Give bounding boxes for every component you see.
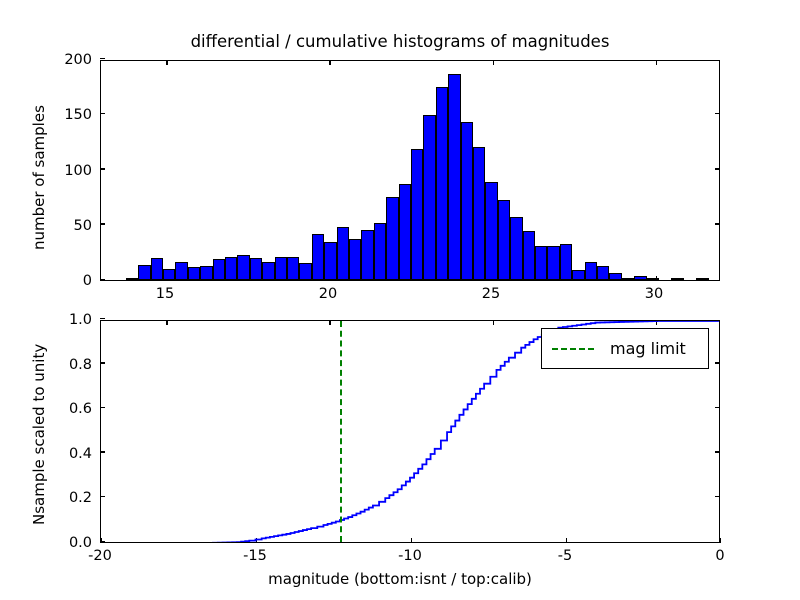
histogram-bar — [138, 265, 150, 280]
histogram-bar — [213, 259, 225, 280]
legend-box[interactable]: mag limit — [541, 328, 709, 369]
mag-limit-line — [340, 321, 342, 542]
bottom-ytick-label-10: 1.0 — [50, 312, 92, 328]
histogram-bar — [337, 227, 349, 280]
bottom-xtick-label-m15: -15 — [243, 548, 267, 564]
histogram-bar — [299, 263, 311, 280]
top-panel-ylabel: number of samples — [30, 105, 48, 250]
legend-entry-label: mag limit — [610, 339, 686, 358]
histogram-bar — [448, 74, 460, 280]
top-xtick-label-25: 25 — [482, 286, 500, 302]
histogram-bar — [188, 267, 200, 280]
top-xtick-label-20: 20 — [319, 286, 337, 302]
histogram-bar — [411, 149, 423, 280]
figure-canvas: differential / cumulative histograms of … — [0, 0, 800, 600]
histogram-bar — [237, 255, 249, 280]
histogram-bar — [597, 266, 609, 280]
histogram-bar — [634, 276, 646, 280]
histogram-bar — [473, 147, 485, 280]
histogram-bar — [250, 258, 262, 280]
histogram-bar — [275, 257, 287, 280]
histogram-bar — [386, 197, 398, 280]
bottom-xtick-label-m20: -20 — [88, 548, 112, 564]
histogram-bar — [126, 278, 138, 280]
histogram-bar — [151, 258, 163, 280]
legend-dashed-line-icon — [552, 348, 594, 350]
top-ytick-200 — [100, 58, 105, 59]
top-panel-axes — [100, 60, 720, 281]
bottom-xtick-label-m5: -5 — [558, 548, 572, 564]
histogram-bar — [349, 239, 361, 280]
bottom-panel-ylabel: Nsample scaled to unity — [30, 344, 48, 525]
histogram-bar — [287, 257, 299, 280]
bottom-ytick-10 — [100, 318, 105, 319]
top-xtick-label-30: 30 — [645, 286, 663, 302]
histogram-bar — [175, 262, 187, 280]
histogram-bar — [622, 278, 634, 280]
figure-title: differential / cumulative histograms of … — [0, 32, 800, 51]
top-ytick-label-150: 150 — [50, 107, 92, 123]
histogram-bar — [485, 182, 497, 280]
histogram-bar — [510, 217, 522, 280]
bottom-ytick-label-06: 0.6 — [50, 401, 92, 417]
bottom-ytick-label-08: 0.8 — [50, 357, 92, 373]
histogram-bar — [262, 262, 274, 280]
top-ytick-label-100: 100 — [50, 163, 92, 179]
top-ytick-label-0: 0 — [58, 273, 92, 289]
histogram-bar — [585, 262, 597, 280]
bottom-xtick-label-m10: -10 — [398, 548, 422, 564]
histogram-bar — [374, 223, 386, 280]
histogram-bar — [609, 273, 621, 280]
bottom-xtick-0 — [720, 538, 721, 543]
bottom-ytick-label-02: 0.2 — [50, 490, 92, 506]
histogram-bar — [324, 242, 336, 280]
histogram-bars — [101, 61, 719, 280]
top-xtick-label-15: 15 — [156, 286, 174, 302]
histogram-bar — [647, 278, 659, 280]
top-ytick-label-50: 50 — [58, 218, 92, 234]
histogram-bar — [547, 246, 559, 280]
histogram-bar — [535, 246, 547, 280]
histogram-bar — [498, 200, 510, 280]
bottom-xtick-label-0: 0 — [715, 548, 724, 564]
histogram-bar — [225, 257, 237, 280]
bottom-ytick-label-0: 0.0 — [50, 535, 92, 551]
histogram-bar — [200, 266, 212, 280]
bottom-ytick-label-04: 0.4 — [50, 446, 92, 462]
histogram-bar — [436, 87, 448, 280]
top-ytick-label-200: 200 — [50, 52, 92, 68]
histogram-bar — [361, 230, 373, 280]
histogram-bar — [399, 184, 411, 280]
histogram-bar — [523, 231, 535, 280]
histogram-bar — [461, 122, 473, 280]
histogram-bar — [560, 244, 572, 280]
histogram-bar — [671, 278, 683, 280]
histogram-bar — [572, 270, 584, 280]
histogram-bar — [423, 115, 435, 280]
histogram-bar — [163, 269, 175, 280]
histogram-bar — [696, 278, 708, 280]
top-panel-plot-area — [101, 61, 719, 280]
histogram-bar — [312, 234, 324, 280]
figure-xlabel: magnitude (bottom:isnt / top:calib) — [0, 570, 800, 588]
